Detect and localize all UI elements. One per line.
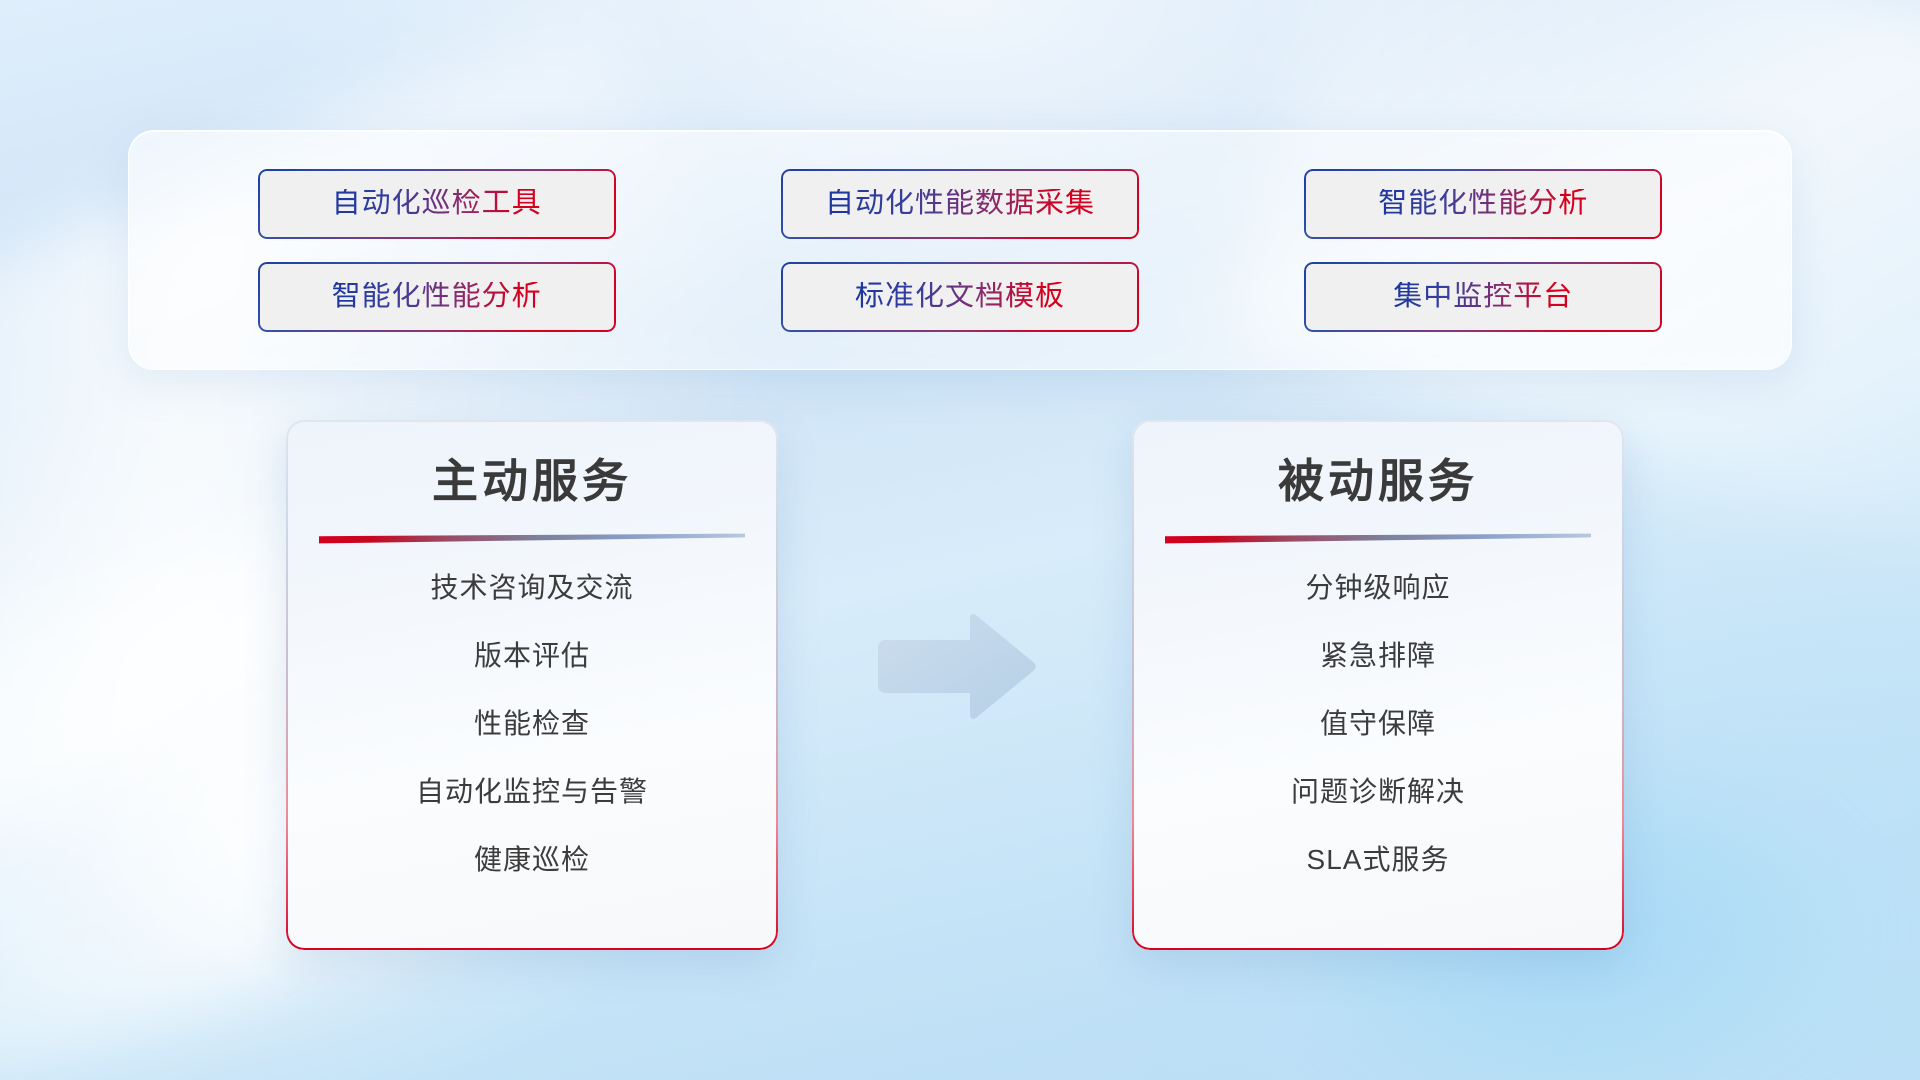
right-arrow-icon — [872, 612, 1038, 724]
service-card-reactive-divider — [1165, 533, 1591, 544]
diagram-canvas: 自动化巡检工具 自动化性能数据采集 智能化性能分析 智能化性能分析 标准化文档模… — [0, 0, 1920, 1080]
capability-tag-2-label: 自动化性能数据采集 — [825, 189, 1095, 218]
capability-tag-6[interactable]: 集中监控平台 — [1304, 262, 1662, 332]
list-item: 版本评估 — [286, 642, 778, 670]
capability-tag-panel: 自动化巡检工具 自动化性能数据采集 智能化性能分析 智能化性能分析 标准化文档模… — [128, 130, 1792, 370]
list-item: 分钟级响应 — [1132, 574, 1624, 602]
capability-tag-1[interactable]: 自动化巡检工具 — [258, 169, 616, 239]
list-item: 技术咨询及交流 — [286, 574, 778, 602]
capability-tag-1-label: 自动化巡检工具 — [332, 189, 542, 218]
list-item: 问题诊断解决 — [1132, 778, 1624, 806]
capability-tag-2[interactable]: 自动化性能数据采集 — [781, 169, 1139, 239]
service-card-proactive: 主动服务 技术咨询及交流 版本评估 性能检查 — [286, 420, 778, 950]
capability-tag-5[interactable]: 标准化文档模板 — [781, 262, 1139, 332]
service-card-reactive-title: 被动服务 — [1132, 456, 1624, 507]
capability-tag-3[interactable]: 智能化性能分析 — [1304, 169, 1662, 239]
service-card-proactive-title: 主动服务 — [286, 456, 778, 507]
list-item: 值守保障 — [1132, 710, 1624, 738]
list-item: 自动化监控与告警 — [286, 778, 778, 806]
list-item: 健康巡检 — [286, 846, 778, 874]
capability-tag-4[interactable]: 智能化性能分析 — [258, 262, 616, 332]
service-card-reactive-list: 分钟级响应 紧急排障 值守保障 问题诊断解决 SLA式服务 — [1132, 574, 1624, 874]
list-item: SLA式服务 — [1132, 846, 1624, 874]
service-card-proactive-list: 技术咨询及交流 版本评估 性能检查 自动化监控与告警 健康巡检 — [286, 574, 778, 874]
list-item: 紧急排障 — [1132, 642, 1624, 670]
capability-tag-3-label: 智能化性能分析 — [1378, 189, 1588, 218]
capability-tag-6-label: 集中监控平台 — [1393, 282, 1573, 311]
capability-tag-4-label: 智能化性能分析 — [332, 282, 542, 311]
list-item: 性能检查 — [286, 710, 778, 738]
service-card-proactive-divider — [319, 533, 745, 544]
service-card-reactive: 被动服务 分钟级响应 紧急排障 值守保障 — [1132, 420, 1624, 950]
capability-tag-5-label: 标准化文档模板 — [855, 282, 1065, 311]
